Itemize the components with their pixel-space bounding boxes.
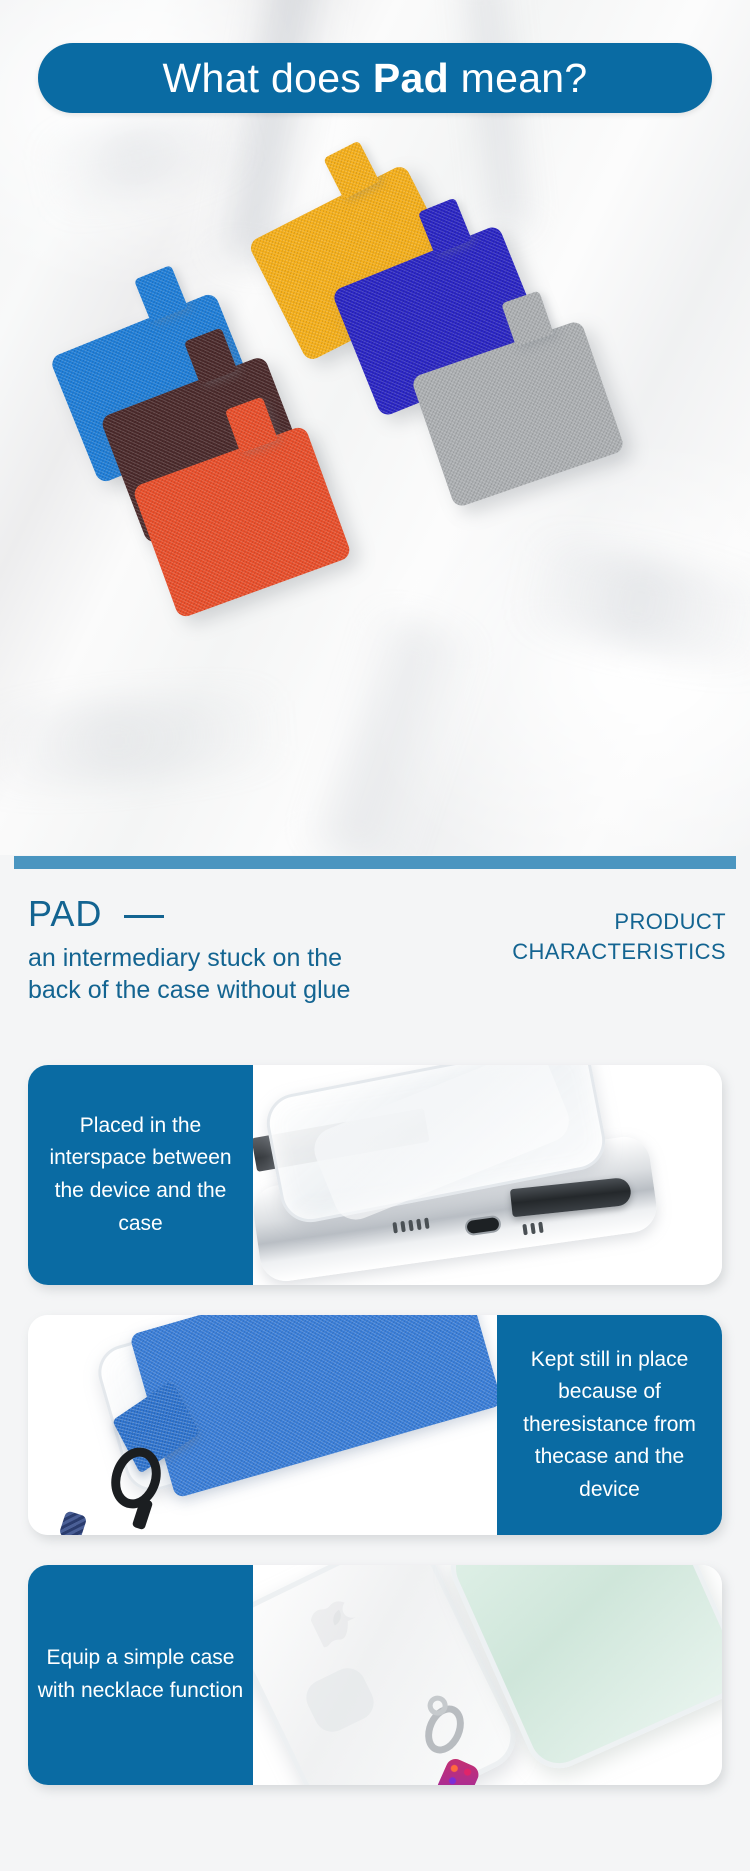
feature-card-3-photo — [253, 1565, 722, 1785]
infographic-page: What does Pad mean? PAD an intermediary … — [0, 0, 750, 1871]
backdrop-shadow-streak — [457, 0, 538, 232]
feature-card-2-text: Kept still in place because of theresist… — [497, 1315, 722, 1535]
feature-card-3: Equip a simple case with necklace functi… — [28, 1565, 722, 1785]
pad-term-heading: PAD — [28, 894, 488, 934]
title-emphasis: Pad — [373, 55, 449, 101]
feature-card-2-photo — [28, 1315, 497, 1535]
kicker-line-2: CHARACTERISTICS — [446, 937, 726, 967]
pad-definition: an intermediary stuck on the back of the… — [28, 942, 438, 1007]
pad-definition-line-2: back of the case without glue — [28, 974, 438, 1007]
black-carabiner-clip — [112, 1447, 172, 1527]
feature-card-1-text: Placed in the interspace between the dev… — [28, 1065, 253, 1285]
backdrop-shadow-streak — [296, 607, 484, 855]
hero-section: What does Pad mean? — [0, 0, 750, 855]
page-title: What does Pad mean? — [162, 58, 587, 99]
feature-card-3-text: Equip a simple case with necklace functi… — [28, 1565, 253, 1785]
backdrop-shadow-streak — [0, 686, 293, 794]
section-divider — [14, 856, 736, 869]
product-characteristics-kicker: PRODUCT CHARACTERISTICS — [446, 907, 726, 966]
em-dash-rule — [124, 915, 164, 918]
description-left: PAD an intermediary stuck on the back of… — [28, 894, 488, 1007]
pad-definition-line-1: an intermediary stuck on the — [28, 942, 438, 975]
title-prefix: What does — [162, 55, 372, 101]
feature-card-1-photo — [253, 1065, 722, 1285]
kicker-line-1: PRODUCT — [446, 907, 726, 937]
title-banner: What does Pad mean? — [38, 43, 712, 113]
pad-term-label: PAD — [28, 894, 102, 934]
description-section: PAD an intermediary stuck on the back of… — [0, 880, 750, 1050]
feature-card-2: Kept still in place because of theresist… — [28, 1315, 722, 1535]
backdrop-shadow-streak — [35, 96, 256, 215]
title-suffix: mean? — [449, 55, 588, 101]
backdrop-shadow-streak — [513, 534, 750, 676]
woven-cord — [59, 1510, 88, 1535]
feature-card-1: Placed in the interspace between the dev… — [28, 1065, 722, 1285]
